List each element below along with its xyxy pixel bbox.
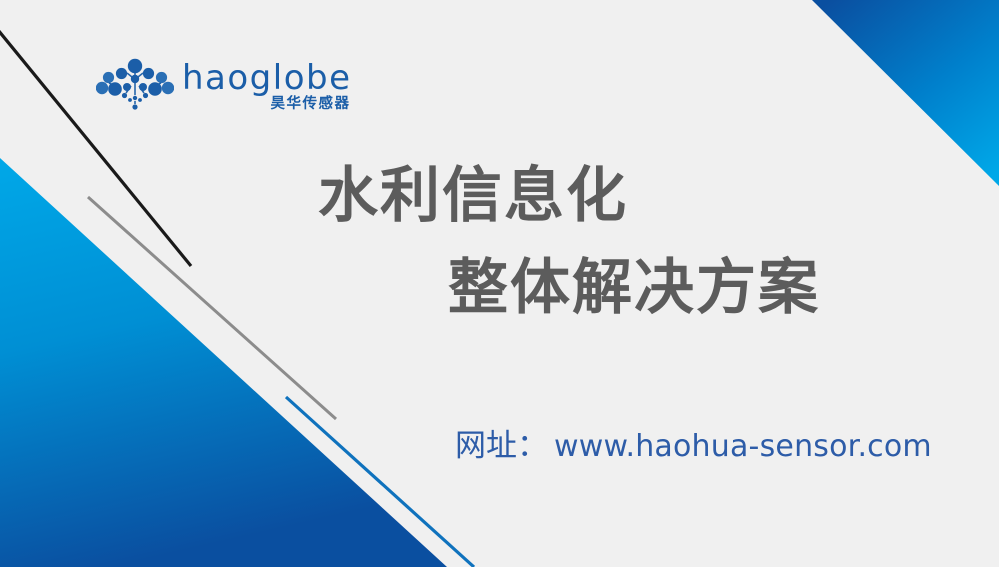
slide-title: 水利信息化 整体解决方案	[0, 166, 999, 318]
company-logo: haoglobe 昊华传感器	[96, 58, 352, 116]
logo-subtitle: 昊华传感器	[271, 97, 351, 113]
website-url[interactable]: www.haohua-sensor.com	[554, 429, 932, 464]
website-line: 网址： www.haohua-sensor.com	[455, 420, 932, 465]
logo-wordmark: haoglobe	[182, 61, 352, 96]
title-line-2: 整体解决方案	[0, 258, 999, 318]
presentation-slide: haoglobe 昊华传感器 水利信息化 整体解决方案 网址： www.haoh…	[0, 0, 999, 567]
website-label: 网址：	[455, 420, 548, 465]
haoglobe-network-nodes-logo-icon	[96, 58, 174, 116]
title-line-1: 水利信息化	[0, 166, 999, 226]
logo-text-group: haoglobe 昊华传感器	[182, 58, 352, 113]
